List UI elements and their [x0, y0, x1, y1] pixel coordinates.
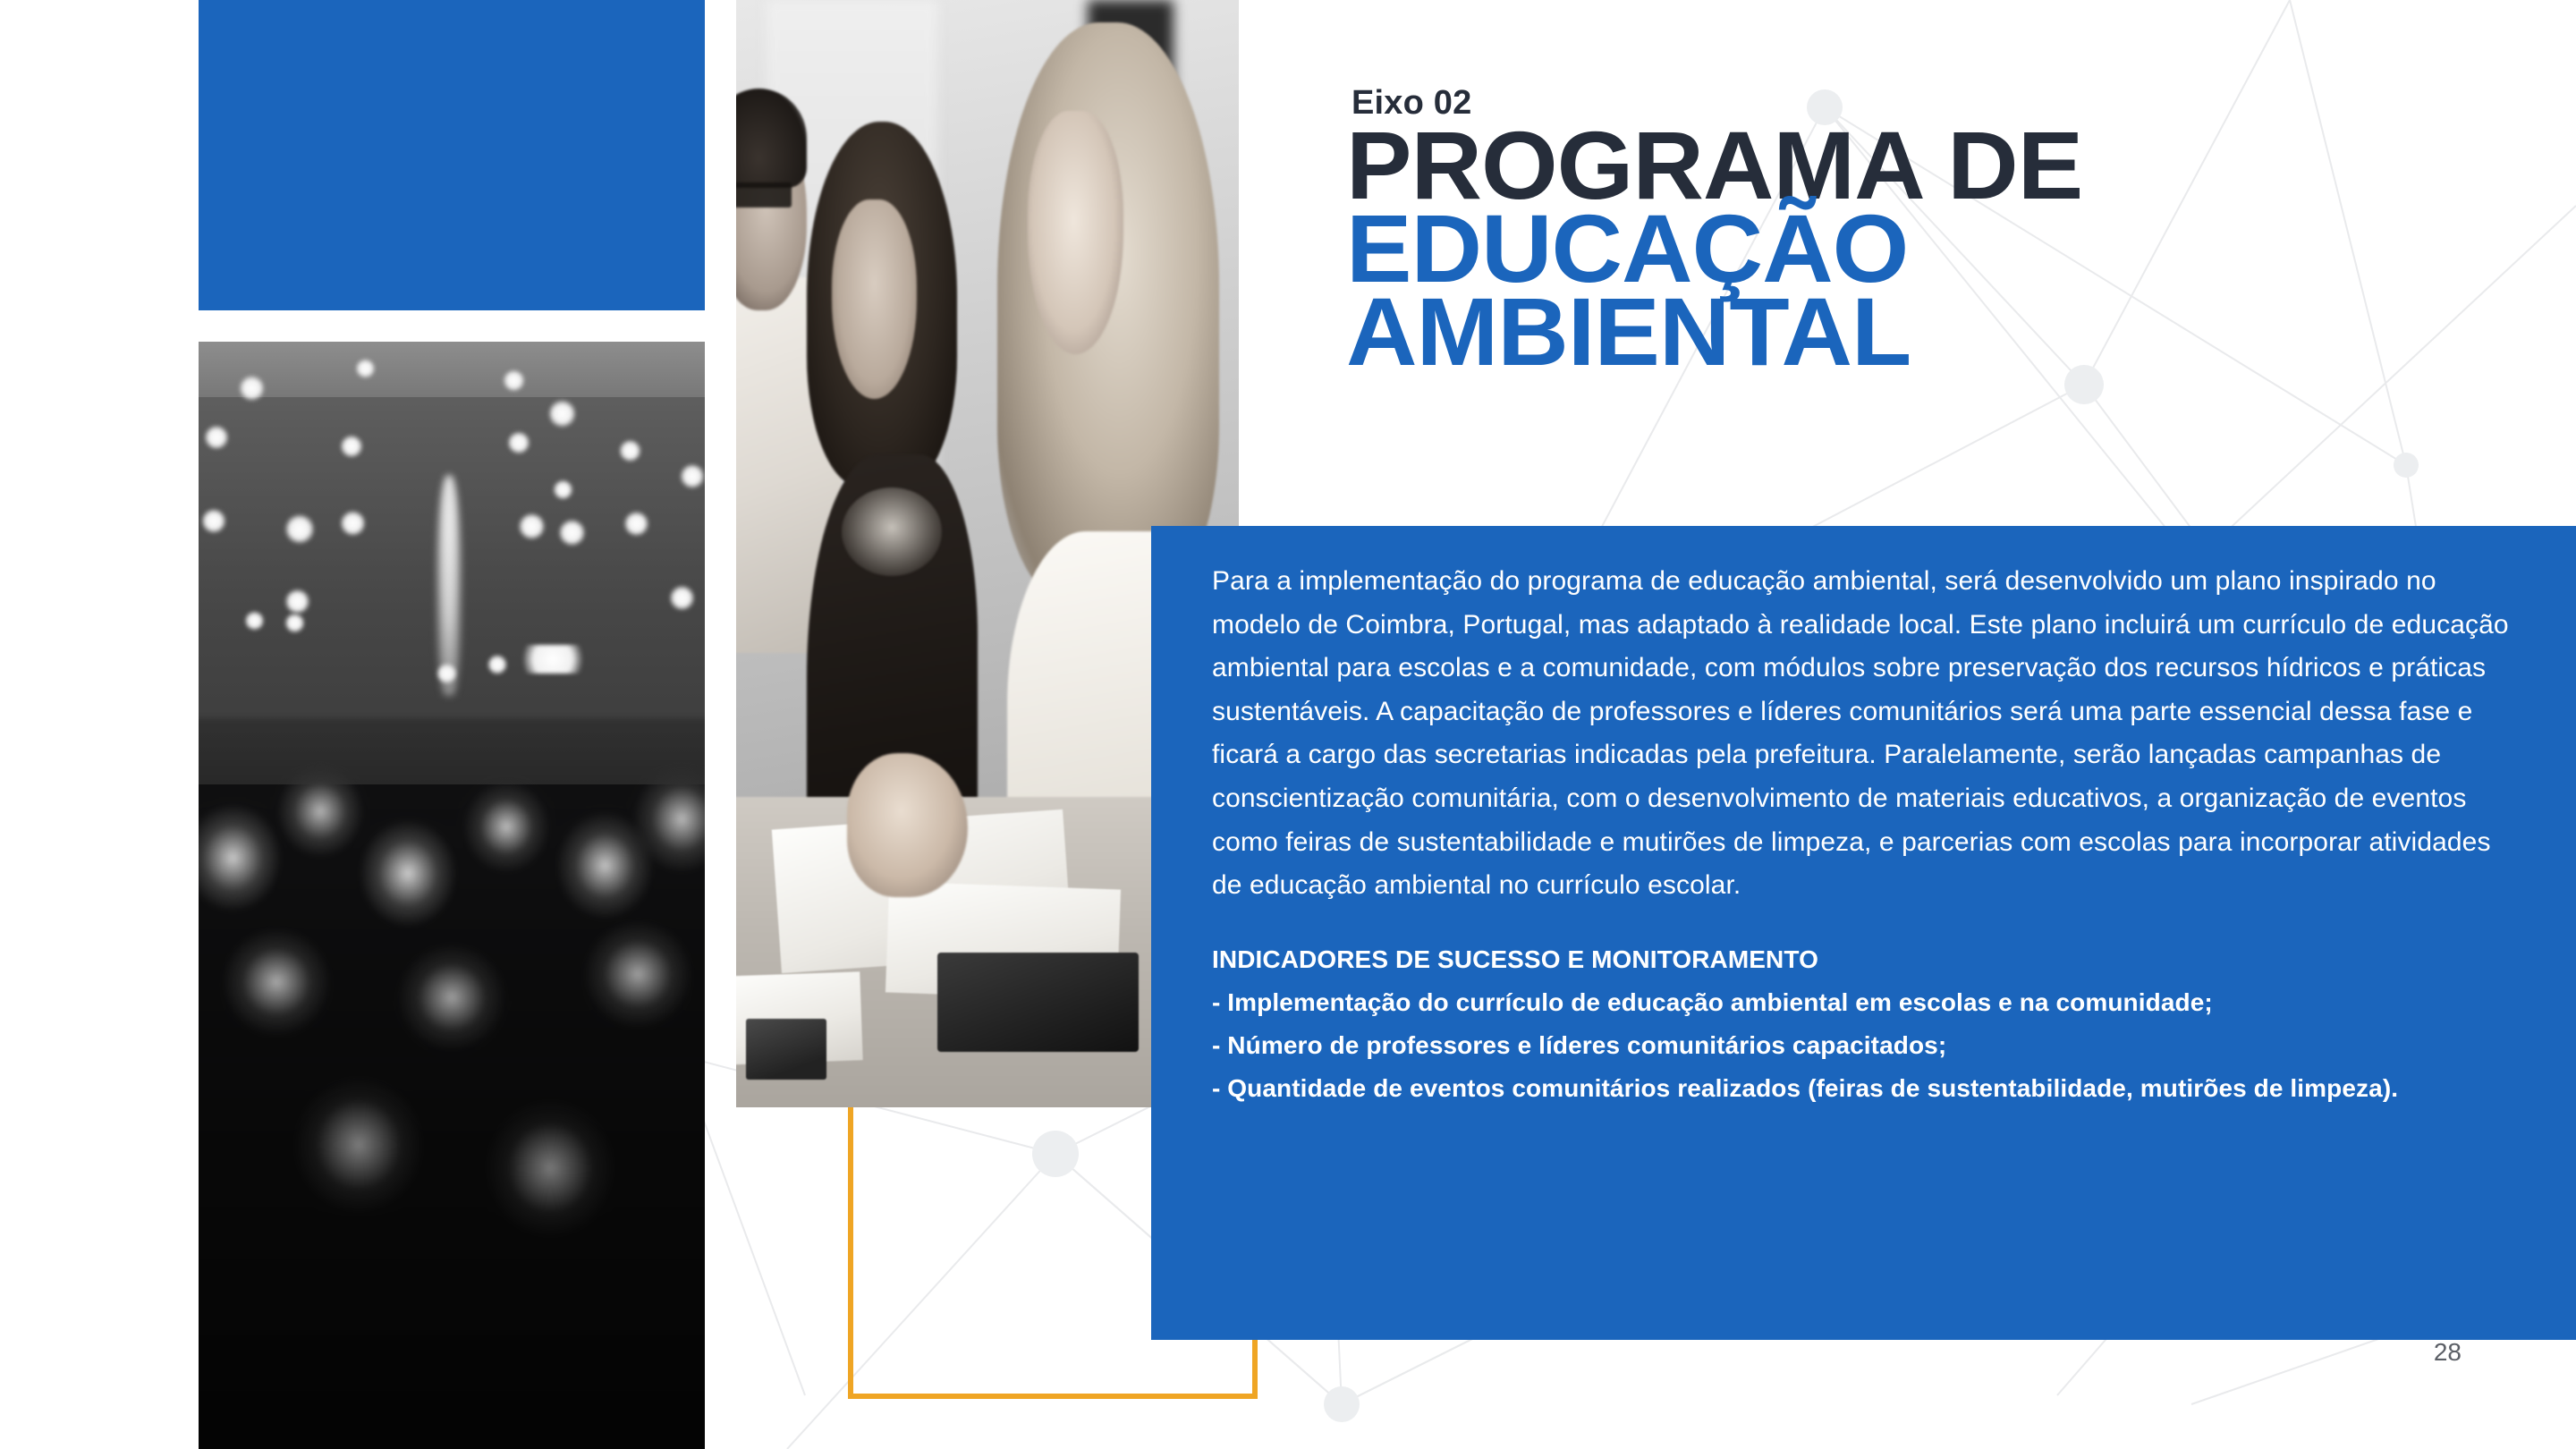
indicator-item: - Implementação do currículo de educação…	[1212, 981, 2513, 1024]
crowd-at-event-photo	[199, 342, 705, 1449]
indicators-title: INDICADORES DE SUCESSO E MONITORAMENTO	[1212, 938, 2513, 981]
page-number: 28	[2434, 1338, 2462, 1367]
title-line-3: AMBIENTAL	[1346, 291, 2082, 374]
content-panel: Para a implementação do programa de educ…	[1151, 526, 2576, 1340]
page-title: Eixo 02 PROGRAMA DE EDUCAÇÃO AMBIENTAL	[1346, 85, 2068, 373]
indicator-item: - Número de professores e líderes comuni…	[1212, 1024, 2513, 1067]
blue-decorative-block	[199, 0, 705, 310]
indicator-item: - Quantidade de eventos comunitários rea…	[1212, 1067, 2513, 1110]
slide-root: Eixo 02 PROGRAMA DE EDUCAÇÃO AMBIENTAL P…	[0, 0, 2576, 1449]
body-paragraph: Para a implementação do programa de educ…	[1212, 560, 2513, 908]
panel-spacer	[1212, 908, 2513, 938]
